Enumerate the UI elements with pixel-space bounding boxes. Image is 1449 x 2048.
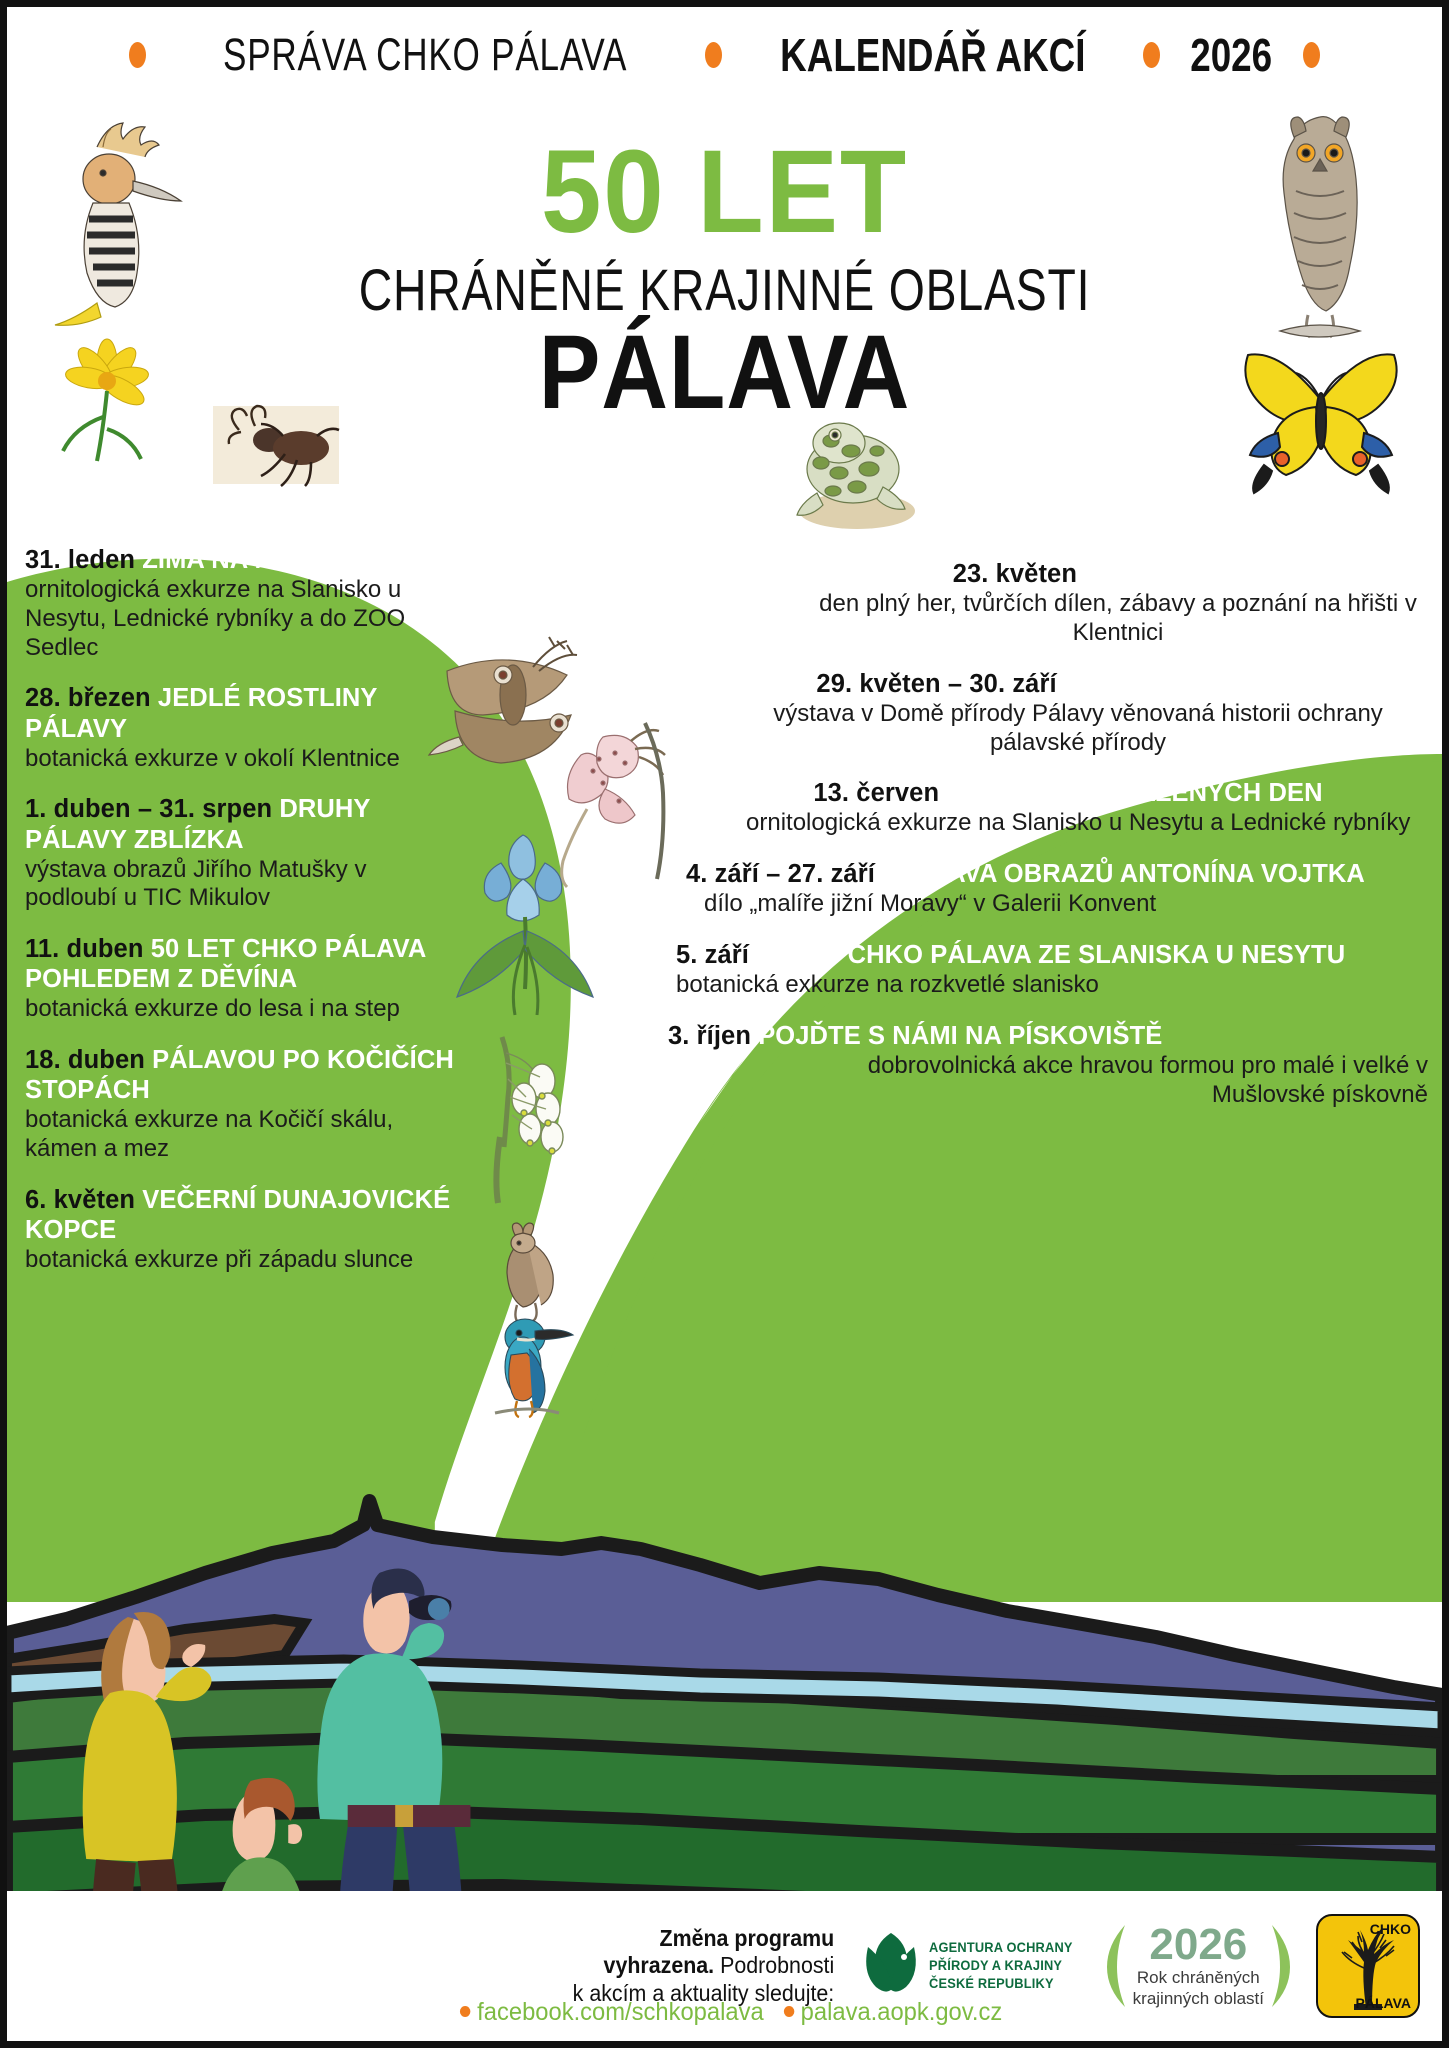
event-item: 5. září 50 LET CHKO PÁLAVA ZE SLANISKA U… xyxy=(668,940,1428,1000)
event-description: výstava obrazů Jiřího Matušky v podloubí… xyxy=(25,856,455,914)
event-headline: 1. duben – 31. srpen DRUHY PÁLAVY ZBLÍZK… xyxy=(25,794,455,854)
header-calendar-label: KALENDÁŘ AKCÍ xyxy=(780,28,1085,82)
event-date: 18. duben xyxy=(25,1046,145,1074)
event-item: 4. září – 27. září VÝSTAVA OBRAZŮ ANTONÍ… xyxy=(668,859,1428,919)
bullet-dot-icon xyxy=(784,2006,794,2017)
event-headline: 29. květen – 30. září 50 LET CHKO PÁLAVA xyxy=(728,669,1428,699)
events-column-right: 23. květen PÁLAVSKÝ DEN den plný her, tv… xyxy=(668,559,1428,1131)
event-title: 50 LET CHKO PÁLAVA xyxy=(1064,670,1340,698)
year-sub-line1: Rok chráněných xyxy=(1133,1967,1264,1988)
event-description: ornitologická exkurze na Slanisko u Nesy… xyxy=(25,576,455,662)
event-description: výstava v Domě přírody Pálavy věnovaná h… xyxy=(728,700,1428,758)
event-headline: 13. červen ZA PTÁKY OBNAŽENÝCH DEN xyxy=(708,778,1428,808)
event-date: 3. říjen xyxy=(668,1022,751,1050)
title-50-let: 50 LET xyxy=(64,133,1384,251)
aopk-line1: AGENTURA OCHRANY xyxy=(929,1939,1073,1957)
events-column-left: 31. leden ZIMA NA NESYTU ornitologická e… xyxy=(25,545,455,1296)
event-item: 6. květen VEČERNÍ DUNAJOVICKÉ KOPCE bota… xyxy=(25,1185,455,1275)
title-palava: PÁLAVA xyxy=(93,318,1356,428)
footer-links: facebook.com/schkopalava palava.aopk.gov… xyxy=(43,1998,1406,2027)
event-headline: 11. duben 50 LET CHKO PÁLAVA POHLEDEM Z … xyxy=(25,934,455,994)
footer-note-line2-rest: Podrobnosti xyxy=(720,1952,834,1978)
header-year: 2026 xyxy=(1190,28,1272,82)
event-description: dílo „malíře jižní Moravy“ v Galerii Kon… xyxy=(686,890,1428,919)
event-headline: 23. květen PÁLAVSKÝ DEN xyxy=(808,559,1428,589)
event-headline: 31. leden ZIMA NA NESYTU xyxy=(25,545,455,575)
event-date: 29. květen – 30. září xyxy=(816,670,1056,698)
event-description: botanická exkurze na rozkvetlé slanisko xyxy=(676,971,1428,1000)
event-date: 5. září xyxy=(676,941,749,969)
event-headline: 6. květen VEČERNÍ DUNAJOVICKÉ KOPCE xyxy=(25,1185,455,1245)
event-title: ZIMA NA NESYTU xyxy=(142,546,358,574)
aopk-leaf-icon xyxy=(860,1927,922,2005)
event-title: ZA PTÁKY OBNAŽENÝCH DEN xyxy=(946,779,1322,807)
left-bracket-leaf-icon xyxy=(1107,1923,1129,2009)
event-headline: 28. březen JEDLÉ ROSTLINY PÁLAVY xyxy=(25,683,455,743)
event-headline: 4. září – 27. září VÝSTAVA OBRAZŮ ANTONÍ… xyxy=(686,859,1428,889)
event-description: botanická exkurze v okolí Klentnice xyxy=(25,745,455,774)
footer-note-line2-bold: vyhrazena. xyxy=(604,1952,715,1978)
logo-aopk: AGENTURA OCHRANY PŘÍRODY A KRAJINY ČESKÉ… xyxy=(860,1927,1080,2005)
bullet-dot-icon xyxy=(460,2006,470,2017)
event-date: 13. červen xyxy=(813,779,939,807)
poster-title-block: 50 LET CHRÁNĚNÉ KRAJINNÉ OBLASTI PÁLAVA xyxy=(7,103,1442,428)
event-item: 13. červen ZA PTÁKY OBNAŽENÝCH DEN ornit… xyxy=(668,778,1428,838)
event-item: 1. duben – 31. srpen DRUHY PÁLAVY ZBLÍZK… xyxy=(25,794,455,913)
event-item: 29. květen – 30. září 50 LET CHKO PÁLAVA… xyxy=(668,669,1428,758)
event-item: 31. leden ZIMA NA NESYTU ornitologická e… xyxy=(25,545,455,662)
event-title: VÝSTAVA OBRAZŮ ANTONÍNA VOJTKA xyxy=(882,860,1365,888)
event-description: ornitologická exkurze na Slanisko u Nesy… xyxy=(708,809,1428,838)
event-description: botanická exkurze na Kočičí skálu, kámen… xyxy=(25,1106,455,1164)
hoopoe-bird-icon xyxy=(37,107,207,327)
title-chranene-krajinne-oblasti: CHRÁNĚNÉ KRAJINNÉ OBLASTI xyxy=(151,257,1299,324)
year-2026: 2026 xyxy=(1133,1923,1264,1967)
event-item: 3. říjen POJĎTE S NÁMI NA PÍSKOVIŠTĚ dob… xyxy=(668,1021,1428,1110)
poster-header: SPRÁVA CHKO PÁLAVA KALENDÁŘ AKCÍ 2026 xyxy=(7,7,1442,103)
event-date: 11. duben xyxy=(25,935,144,963)
event-description: den plný her, tvůrčích dílen, zábavy a p… xyxy=(808,590,1428,648)
bullet-dot-icon xyxy=(1303,42,1320,68)
event-title: POJĎTE S NÁMI NA PÍSKOVIŠTĚ xyxy=(758,1022,1162,1050)
event-date: 23. květen xyxy=(953,560,1077,588)
aopk-line2: PŘÍRODY A KRAJINY xyxy=(929,1957,1073,1975)
event-title: PÁLAVSKÝ DEN xyxy=(1084,560,1283,588)
event-title: 50 LET CHKO PÁLAVA ZE SLANISKA U NESYTU xyxy=(756,941,1345,969)
event-item: 28. březen JEDLÉ ROSTLINY PÁLAVY botanic… xyxy=(25,683,455,773)
aopk-text: AGENTURA OCHRANY PŘÍRODY A KRAJINY ČESKÉ… xyxy=(929,1939,1073,1992)
footer-note: Změna programu vyhrazena. Podrobnosti k … xyxy=(573,1925,835,2006)
event-item: 23. květen PÁLAVSKÝ DEN den plný her, tv… xyxy=(668,559,1428,648)
aopk-line3: ČESKÉ REPUBLIKY xyxy=(929,1975,1073,1993)
logo-year-of-protected-landscapes: 2026 Rok chráněných krajinných oblastí xyxy=(1107,1923,1290,2010)
event-item: 18. duben PÁLAVOU PO KOČIČÍCH STOPÁCH bo… xyxy=(25,1045,455,1164)
bullet-dot-icon xyxy=(1143,42,1160,68)
event-headline: 5. září 50 LET CHKO PÁLAVA ZE SLANISKA U… xyxy=(676,940,1428,970)
event-date: 4. září – 27. září xyxy=(686,860,875,888)
right-bracket-leaf-icon xyxy=(1268,1923,1290,2009)
event-headline: 3. říjen POJĎTE S NÁMI NA PÍSKOVIŠTĚ xyxy=(668,1021,1428,1051)
header-organization: SPRÁVA CHKO PÁLAVA xyxy=(223,29,627,81)
poster-root: SPRÁVA CHKO PÁLAVA KALENDÁŘ AKCÍ 2026 50… xyxy=(0,0,1449,2048)
event-date: 6. květen xyxy=(25,1186,135,1214)
chko-label-top: CHKO xyxy=(1370,1921,1411,1937)
event-description: botanická exkurze při západu slunce xyxy=(25,1246,455,1275)
event-date: 28. březen xyxy=(25,684,151,712)
bullet-dot-icon xyxy=(129,42,146,68)
eagle-owl-icon xyxy=(1224,103,1414,363)
event-item: 11. duben 50 LET CHKO PÁLAVA POHLEDEM Z … xyxy=(25,934,455,1024)
event-date: 1. duben – 31. srpen xyxy=(25,795,272,823)
facebook-link[interactable]: facebook.com/schkopalava xyxy=(477,1998,763,2026)
event-headline: 18. duben PÁLAVOU PO KOČIČÍCH STOPÁCH xyxy=(25,1045,455,1105)
footer-note-line1: Změna programu xyxy=(660,1925,835,1951)
event-description: dobrovolnická akce hravou formou pro mal… xyxy=(668,1052,1428,1110)
yellow-flower-icon xyxy=(29,337,189,477)
event-description: botanická exkurze do lesa i na step xyxy=(25,995,455,1024)
event-date: 31. leden xyxy=(25,546,135,574)
website-link[interactable]: palava.aopk.gov.cz xyxy=(801,1998,1003,2026)
bullet-dot-icon xyxy=(705,42,722,68)
